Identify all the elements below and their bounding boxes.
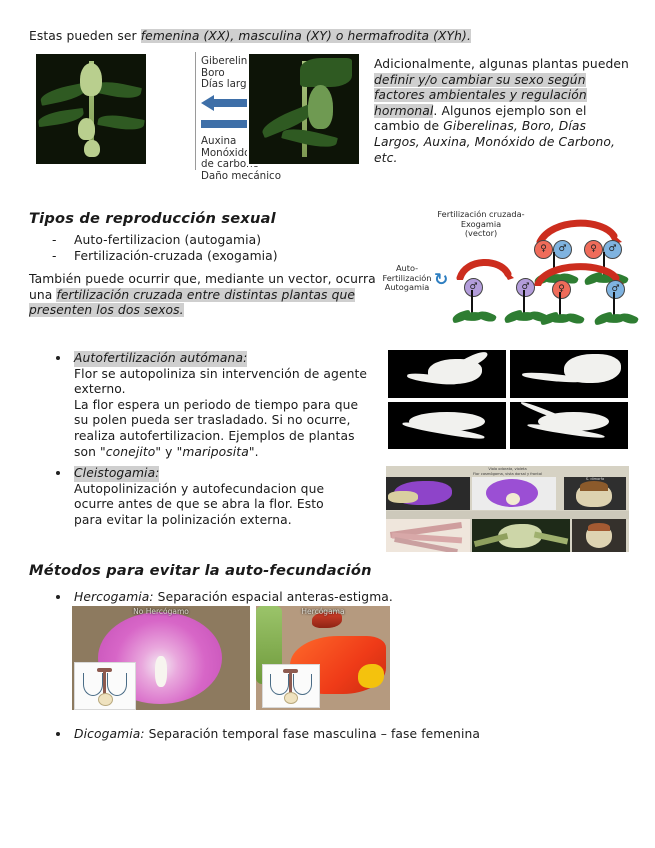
bullet-dot-icon — [56, 732, 60, 736]
hercogamia-photo-pair: No Hercógamo Hercógama — [72, 606, 390, 710]
bullet-autofertilizacion: Autofertilización autómana: Flor se auto… — [52, 351, 399, 460]
flower-hermaphrodite-icon: ♂ — [464, 278, 483, 297]
bullet-hercogamia: Hercogamia: Separación espacial anteras-… — [52, 590, 494, 606]
tambien-highlight: fertilización cruzada entre distintas pl… — [29, 288, 355, 318]
violet-panel-pistilos: Pistilos — [572, 519, 626, 552]
cleistogamia-line-1: ocurre antes de que se abra la flor. Est… — [74, 497, 399, 513]
violet-panel-dorsal — [386, 477, 470, 510]
autofertilizacion-line-0: Flor se autopoliniza sin intervención de… — [74, 367, 399, 383]
dioecious-plant-male: ♂ — [588, 278, 642, 330]
flower-female-icon: ♀ — [534, 240, 553, 259]
hercogama-inset-diagram — [262, 664, 320, 708]
intro-line: Estas pueden ser femenina (XX), masculin… — [29, 29, 629, 45]
dash-marker: - — [52, 249, 74, 265]
violet-figure-subtitle: Flor casmógama, vista dorsal y frontal — [386, 472, 629, 476]
autogamous-flower-photo-grid — [388, 350, 628, 449]
no-hercogamo-photo: No Hercógamo — [72, 606, 250, 710]
bullet-dot-icon — [56, 356, 60, 360]
flower-female-icon: ♀ — [584, 240, 603, 259]
violet-figure-band — [386, 511, 629, 519]
tipos-heading: Tipos de reproducción sexual — [29, 210, 276, 227]
adicional-paragraph: Adicionalmente, algunas plantas pueden d… — [374, 57, 632, 166]
violet-cleistogamy-figure: Viola odorata, violeta Flor casmógama, v… — [386, 466, 629, 552]
female-plant-graphic — [249, 54, 359, 164]
violet-figure-title: Viola odorata, violeta — [386, 467, 629, 471]
male-plant-graphic — [36, 54, 146, 164]
flower-female-icon: ♀ — [552, 280, 571, 299]
bullet-dot-icon — [56, 595, 60, 599]
tambien-paragraph: También puede ocurrir que, mediante un v… — [29, 272, 379, 319]
flower-photo-panel-a — [388, 350, 506, 398]
adicional-text-1: Adicionalmente, algunas plantas pueden — [374, 57, 629, 71]
sex-determination-figure: male Giberelinas Boro Días largos Auxina… — [29, 52, 369, 182]
cleistogamia-term: Cleistogamia: — [74, 466, 159, 482]
intro-highlight: femenina (XX), masculina (XY) o hermafro… — [141, 29, 471, 43]
quoted-mariposita: mariposita — [182, 445, 249, 459]
hercogamia-text: Separación espacial anteras-estigma. — [154, 590, 393, 604]
autofertilizacion-line-3: su polen pueda ser trasladado. Si no ocu… — [74, 413, 399, 429]
cleistogamia-line-2: para evitar la polinización externa. — [74, 513, 399, 529]
violet-panel-estambres: Flor con estambres atrofiados — [472, 519, 570, 552]
tipos-item-1: Fertilización-cruzada (exogamia) — [74, 249, 278, 265]
no-hercogamo-inset-diagram — [74, 662, 136, 710]
cleistogamia-line-0: Autopolinización y autofecundacion que — [74, 482, 399, 498]
dicogamia-term: Dicogamia: — [74, 727, 145, 741]
autofertilizacion-line-2: La flor espera un periodo de tiempo para… — [74, 398, 399, 414]
autogamy-line-2: Autogamia — [378, 283, 436, 293]
hercogamia-term: Hercogamia: — [74, 590, 154, 604]
xpoll-title-line-2: (vector) — [426, 229, 536, 239]
tipos-list: - Auto-fertilizacion (autogamia) - Ferti… — [52, 233, 382, 264]
bullet-dot-icon — [56, 471, 60, 475]
pollination-diagram: Fertilización cruzada- Exogamia (vector)… — [382, 208, 632, 330]
intro-prefix: Estas pueden ser — [29, 29, 141, 43]
bullet-dicogamia: Dicogamia: Separación temporal fase masc… — [52, 727, 544, 743]
dash-marker: - — [52, 233, 74, 249]
flower-photo-panel-b — [510, 350, 628, 398]
autofertilizacion-term: Autofertilización autómana: — [74, 351, 247, 367]
factor-dano-mecanico: Daño mecánico — [201, 171, 296, 183]
flower-male-icon: ♂ — [606, 280, 625, 299]
male-plant-photo: male — [34, 52, 148, 166]
hercogama-photo: Hercógama — [256, 606, 390, 710]
list-item: - Auto-fertilizacion (autogamia) — [52, 233, 382, 249]
autogamy-plant-source: ♂ — [446, 276, 500, 328]
dicogamia-text: Separación temporal fase masculina – fas… — [145, 727, 480, 741]
female-plant-photo: femelle — [247, 52, 361, 166]
quoted-conejito: conejito — [106, 445, 156, 459]
flower-photo-panel-c — [388, 402, 506, 450]
violet-panel-frontal — [472, 477, 556, 510]
flower-male-icon: ♂ — [553, 240, 572, 259]
hercogama-caption: Hercógama — [256, 607, 390, 616]
violet-panel-dimorfa: S. dimorfa — [564, 477, 626, 510]
figure-divider — [195, 52, 196, 170]
no-hercogamo-caption: No Hercógamo — [72, 607, 250, 616]
list-item: - Fertilización-cruzada (exogamia) — [52, 249, 382, 265]
bullet-cleistogamia: Cleistogamia: Autopolinización y autofec… — [52, 466, 399, 528]
flower-male-icon: ♂ — [603, 240, 622, 259]
dioecious-plant-female: ♀ — [534, 278, 588, 330]
autofertilizacion-line-5: son "conejito" y "mariposita". — [74, 445, 399, 461]
autofertilizacion-line-4: realiza autofertilizacion. Ejemplos de p… — [74, 429, 399, 445]
flower-photo-panel-d — [510, 402, 628, 450]
autofertilizacion-line-1: externo. — [74, 382, 399, 398]
autogamy-label: Auto- Fertilización Autogamia — [378, 264, 436, 293]
xpoll-title: Fertilización cruzada- Exogamia (vector) — [426, 210, 536, 239]
document-page: Estas pueden ser femenina (XX), masculin… — [0, 0, 655, 848]
tipos-item-0: Auto-fertilizacion (autogamia) — [74, 233, 261, 249]
violet-panel-cleistogama: Flor cleistógama, vista lateral — [386, 519, 470, 552]
metodos-heading: Métodos para evitar la auto-fecundación — [29, 562, 372, 579]
